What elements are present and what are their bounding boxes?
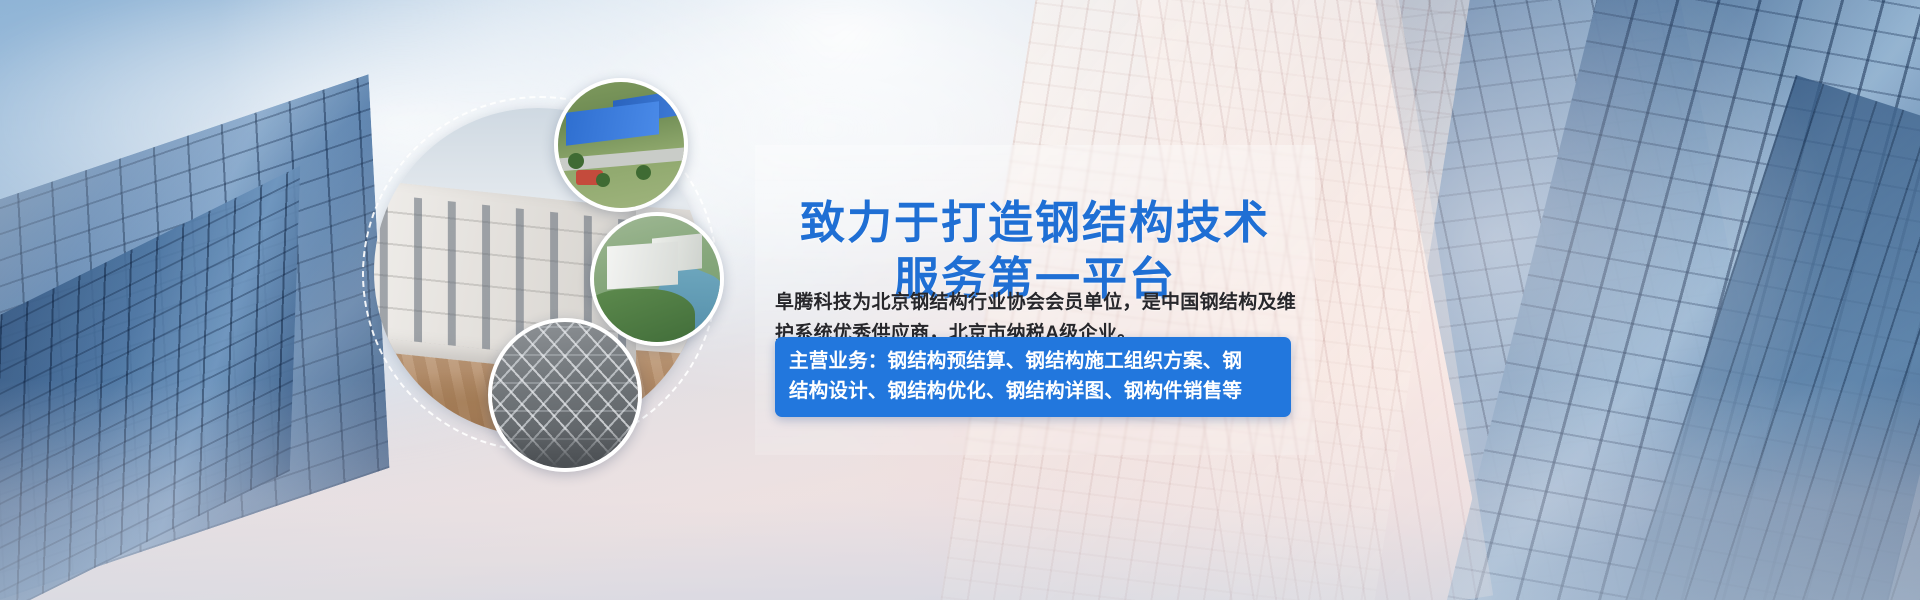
paragraph-line-1: 阜腾科技为北京钢结构行业协会会员单位，是中国钢结构及维 — [775, 287, 1300, 318]
photo-bubble-factory-aerial — [554, 78, 688, 212]
services-badge-line-1: 主营业务：钢结构预结算、钢结构施工组织方案、钢 — [789, 346, 1279, 376]
bubble3-floor — [492, 430, 638, 468]
photo-bubble-steel-truss — [488, 318, 642, 472]
bubble2-building-front — [607, 241, 678, 289]
headline-line-1: 致力于打造钢结构技术 — [755, 195, 1315, 251]
bubble1-tree — [596, 173, 610, 187]
services-badge-line-2: 结构设计、钢结构优化、钢结构详图、钢构件销售等 — [789, 376, 1279, 406]
hero-banner: 致力于打造钢结构技术 服务第一平台 阜腾科技为北京钢结构行业协会会员单位，是中国… — [0, 0, 1920, 600]
services-badge: 主营业务：钢结构预结算、钢结构施工组织方案、钢 结构设计、钢结构优化、钢结构详图… — [775, 337, 1291, 417]
